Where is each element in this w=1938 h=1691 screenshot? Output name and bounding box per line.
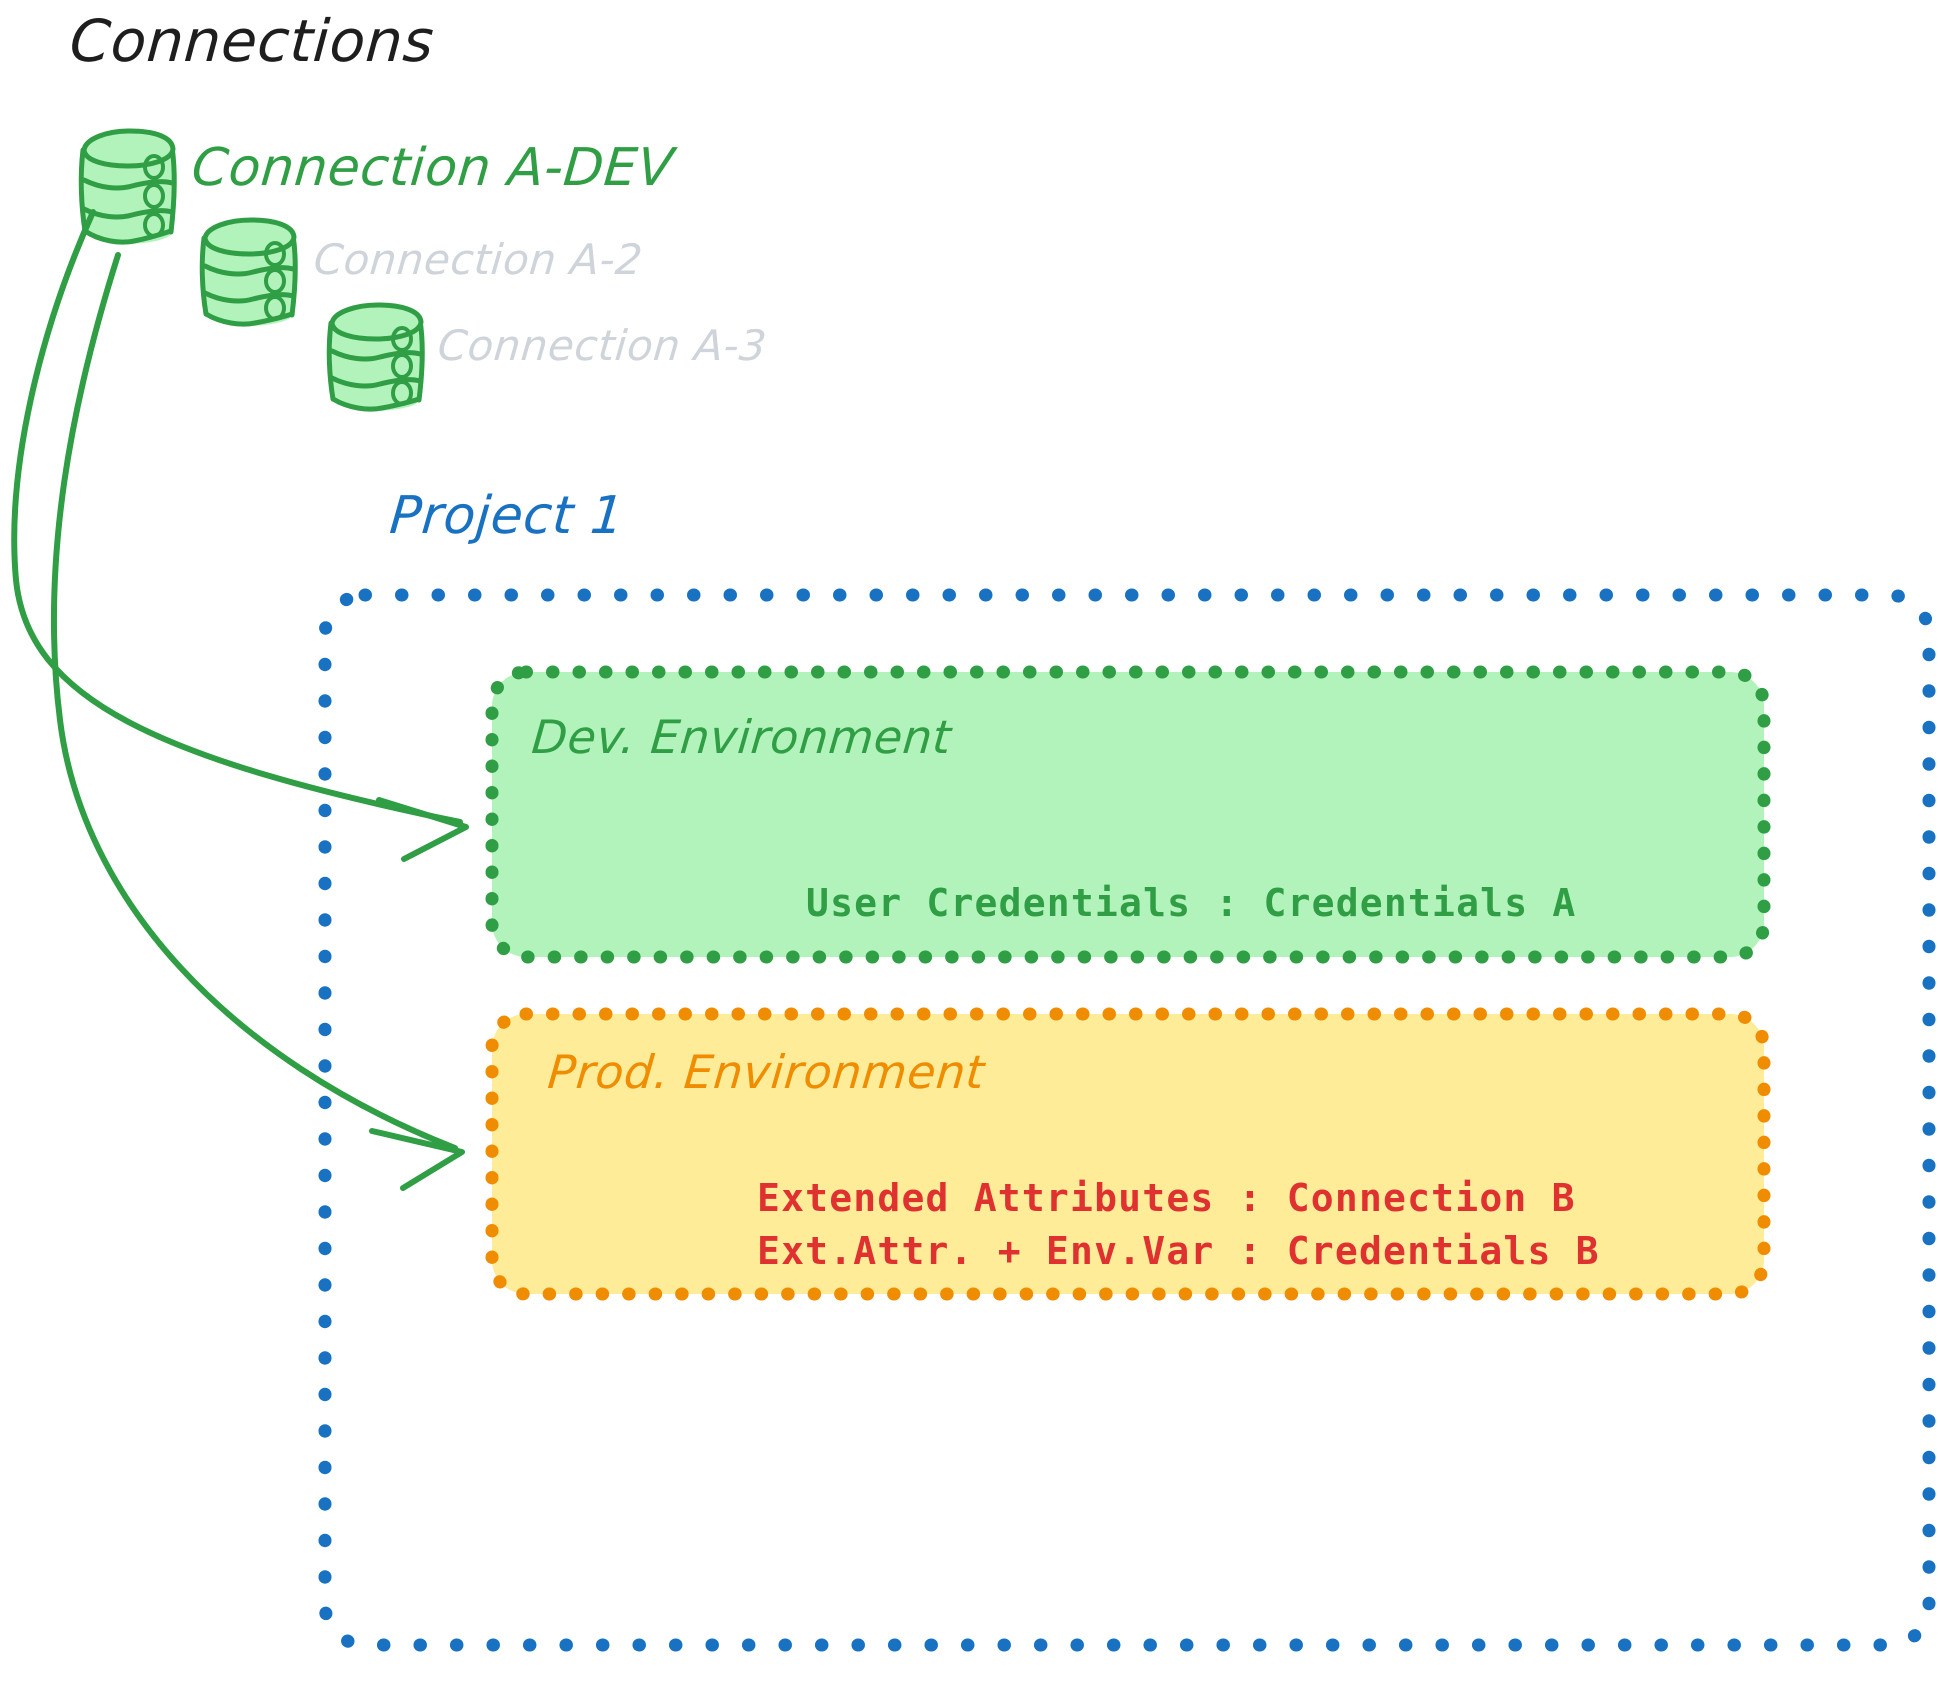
dev-environment-title: Dev. Environment [530, 714, 953, 760]
database-cylinder-icon-a-2[interactable] [202, 220, 295, 326]
prod-environment-attribute: Extended Attributes : Connection B [757, 1179, 1576, 1217]
connection-label-a-dev[interactable]: Connection A-DEV [190, 142, 676, 194]
page-title: Connections [68, 12, 436, 70]
diagram-canvas: Connections Connection A-DEV Connection … [0, 0, 1938, 1691]
dev-environment-attribute: User Credentials : Credentials A [806, 884, 1577, 922]
prod-environment-attribute: Ext.Attr. + Env.Var : Credentials B [757, 1232, 1600, 1270]
connection-label-a-3[interactable]: Connection A-3 [436, 325, 768, 367]
project-label: Project 1 [388, 490, 627, 542]
database-cylinder-icon-a-dev[interactable] [81, 131, 174, 244]
connection-label-a-2[interactable]: Connection A-2 [312, 239, 644, 281]
diagram-vector-layer [0, 0, 1938, 1691]
prod-environment-title: Prod. Environment [546, 1049, 987, 1095]
database-cylinder-icon-a-3[interactable] [329, 305, 422, 411]
